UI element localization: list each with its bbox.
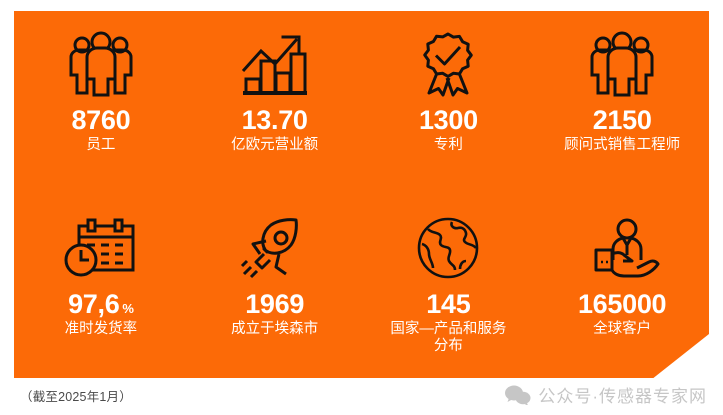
globe-icon bbox=[414, 209, 482, 287]
watermark-text: 公众号·传感器专家网 bbox=[538, 382, 707, 407]
stat-label: 亿欧元营业额 bbox=[231, 137, 318, 154]
stat-value: 1300 bbox=[419, 106, 478, 134]
wechat-icon bbox=[505, 385, 531, 405]
stat-cell-founded: 1969 成立于埃森市 bbox=[188, 195, 362, 379]
stat-value: 2150 bbox=[593, 106, 652, 134]
stat-label: 全球客户 bbox=[593, 321, 651, 338]
hand-person-icon bbox=[582, 209, 662, 287]
stat-label: 国家—产品和服务 分布 bbox=[390, 321, 506, 355]
stat-cell-customers: 165000 全球客户 bbox=[535, 195, 709, 379]
three-people-icon bbox=[63, 25, 139, 103]
calendar-clock-icon bbox=[63, 209, 139, 287]
bar-chart-growth-icon bbox=[237, 25, 313, 103]
stats-grid: 8760 员工 13.70 亿欧元营业额 bbox=[14, 11, 709, 378]
stat-cell-employees: 8760 员工 bbox=[14, 11, 188, 195]
footnote: （截至2025年1月） bbox=[20, 386, 132, 405]
stat-value: 1969 bbox=[245, 290, 304, 318]
stat-label: 顾问式销售工程师 bbox=[564, 137, 680, 154]
infographic-panel: 8760 员工 13.70 亿欧元营业额 bbox=[14, 11, 709, 378]
stat-cell-patents: 1300 专利 bbox=[362, 11, 536, 195]
three-people-icon bbox=[584, 25, 660, 103]
stat-label: 准时发货率 bbox=[65, 321, 138, 338]
stat-value: 165000 bbox=[578, 290, 666, 318]
stat-cell-sales-engineers: 2150 顾问式销售工程师 bbox=[535, 11, 709, 195]
award-ribbon-icon bbox=[412, 25, 484, 103]
stat-value: 97,6% bbox=[68, 290, 134, 318]
watermark: 公众号·传感器专家网 bbox=[505, 382, 707, 407]
stat-label: 员工 bbox=[86, 137, 115, 154]
stat-value: 145 bbox=[426, 290, 470, 318]
stat-unit: % bbox=[122, 301, 133, 316]
stat-label: 专利 bbox=[434, 137, 463, 154]
stat-cell-countries: 145 国家—产品和服务 分布 bbox=[362, 195, 536, 379]
rocket-icon bbox=[238, 209, 312, 287]
stat-value: 8760 bbox=[71, 106, 130, 134]
stat-value: 13.70 bbox=[242, 106, 308, 134]
stat-cell-on-time-delivery: 97,6% 准时发货率 bbox=[14, 195, 188, 379]
stat-cell-revenue: 13.70 亿欧元营业额 bbox=[188, 11, 362, 195]
stat-label: 成立于埃森市 bbox=[231, 321, 318, 338]
